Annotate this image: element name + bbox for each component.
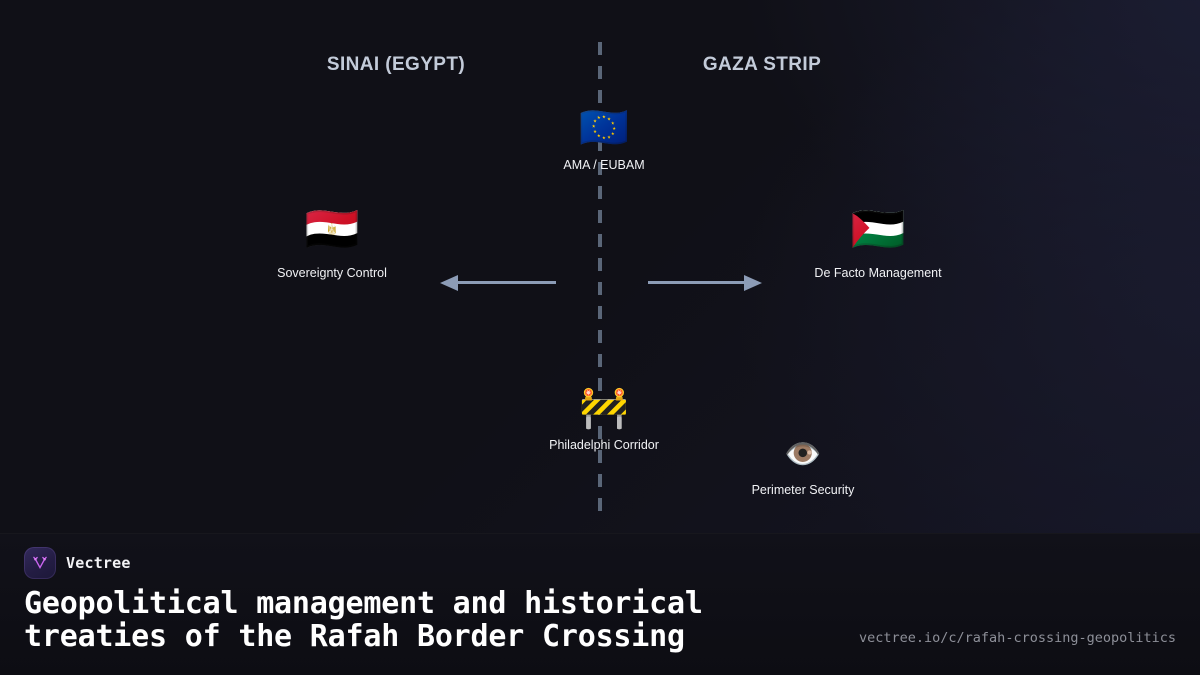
node-de-facto-management: 🇵🇸 De Facto Management [814, 208, 941, 280]
node-caption-philadelphi-corridor: Philadelphi Corridor [549, 438, 659, 452]
node-ama-eubam: 🇪🇺 AMA / EUBAM [563, 108, 644, 172]
arrow-to-sinai-icon [440, 270, 556, 294]
region-title-gaza: GAZA STRIP [703, 54, 821, 76]
node-caption-ama-eubam: AMA / EUBAM [563, 158, 644, 172]
source-url: vectree.io/c/rafah-crossing-geopolitics [859, 630, 1176, 646]
arrow-left-shaft [458, 281, 556, 284]
node-caption-de-facto-management: De Facto Management [814, 266, 941, 280]
region-title-sinai: SINAI (EGYPT) [327, 54, 465, 76]
node-sovereignty-control: 🇪🇬 Sovereignty Control [277, 208, 387, 280]
egypt-flag-icon: 🇪🇬 [277, 208, 387, 252]
arrow-right-head [744, 275, 762, 291]
node-philadelphi-corridor: 🚧 Philadelphi Corridor [549, 388, 659, 452]
brand-name: Vectree [66, 554, 131, 572]
page-title: Geopolitical management and historical t… [24, 587, 854, 653]
construction-barrier-icon: 🚧 [549, 388, 659, 428]
node-caption-perimeter-security: Perimeter Security [752, 483, 855, 497]
arrow-left-head [440, 275, 458, 291]
diagram-area: SINAI (EGYPT) GAZA STRIP 🇪🇺 AMA / EUBAM … [0, 0, 1200, 533]
node-perimeter-security: 👁️ Perimeter Security [752, 440, 855, 497]
european-union-flag-icon: 🇪🇺 [563, 108, 644, 148]
footer-bar: Vectree Geopolitical management and hist… [0, 533, 1200, 675]
arrow-to-gaza-icon [648, 270, 762, 294]
eye-icon: 👁️ [752, 440, 855, 470]
palestine-flag-icon: 🇵🇸 [814, 208, 941, 252]
node-caption-sovereignty-control: Sovereignty Control [277, 266, 387, 280]
infographic-canvas: SINAI (EGYPT) GAZA STRIP 🇪🇺 AMA / EUBAM … [0, 0, 1200, 675]
arrow-right-shaft [648, 281, 744, 284]
brand-block: Vectree [24, 547, 131, 579]
vectree-logo-icon [24, 547, 56, 579]
